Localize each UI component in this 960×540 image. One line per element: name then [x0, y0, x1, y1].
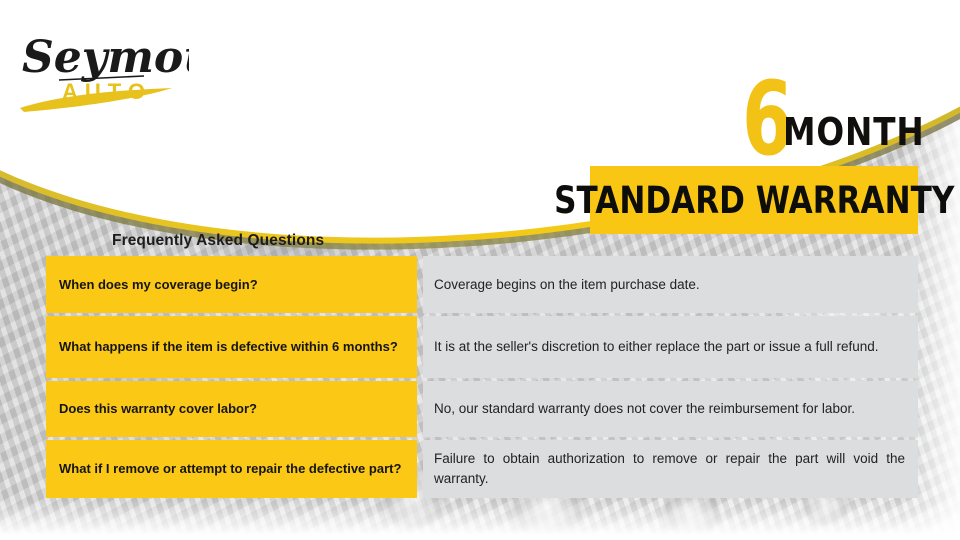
- table-row: What if I remove or attempt to repair th…: [46, 440, 918, 498]
- faq-answer-cell: Coverage begins on the item purchase dat…: [423, 256, 918, 313]
- logo-script-text: Seymour: [22, 32, 189, 83]
- faq-question-cell: Does this warranty cover labor?: [46, 381, 417, 437]
- faq-answer-cell: It is at the seller's discretion to eith…: [423, 316, 918, 378]
- seymour-auto-logo: Seymour AUTO: [14, 16, 189, 116]
- warranty-slide: Seymour AUTO 6 MONTH STANDARD WARRANTY F…: [0, 0, 960, 540]
- duration-badge: 6 MONTH: [742, 62, 948, 162]
- faq-table: When does my coverage begin? Coverage be…: [46, 256, 918, 501]
- faq-question-cell: What if I remove or attempt to repair th…: [46, 440, 417, 498]
- faq-question-cell: What happens if the item is defective wi…: [46, 316, 417, 378]
- duration-unit: MONTH: [783, 113, 925, 151]
- faq-heading: Frequently Asked Questions: [112, 232, 324, 250]
- table-row: What happens if the item is defective wi…: [46, 316, 918, 378]
- table-row: When does my coverage begin? Coverage be…: [46, 256, 918, 313]
- faq-answer-cell: Failure to obtain authorization to remov…: [423, 440, 918, 498]
- logo-graphic: Seymour AUTO: [14, 16, 189, 116]
- banner-title: STANDARD WARRANTY: [554, 179, 954, 222]
- standard-warranty-banner: STANDARD WARRANTY: [590, 166, 918, 234]
- faq-question-cell: When does my coverage begin?: [46, 256, 417, 313]
- table-row: Does this warranty cover labor? No, our …: [46, 381, 918, 437]
- faq-answer-cell: No, our standard warranty does not cover…: [423, 381, 918, 437]
- background-bottom-fade: [0, 500, 960, 540]
